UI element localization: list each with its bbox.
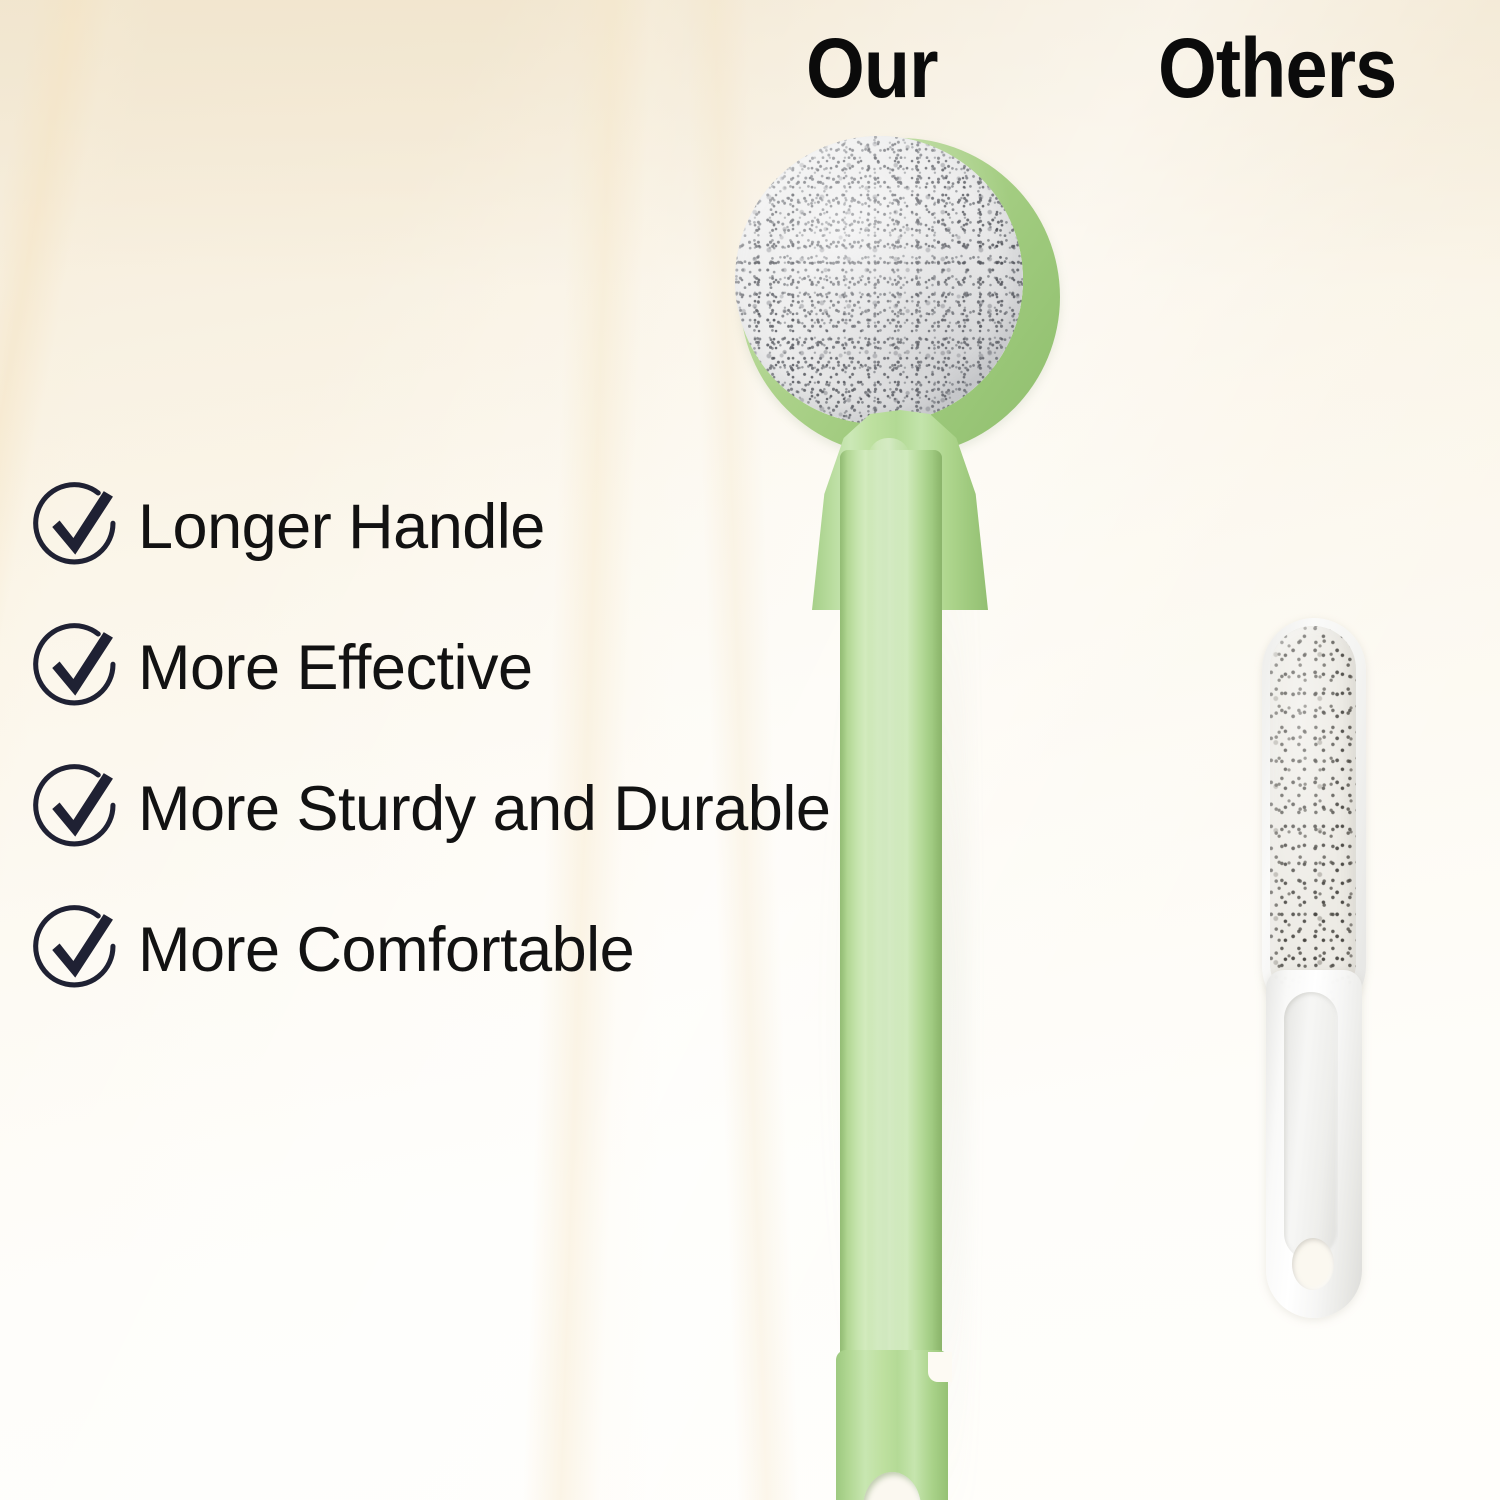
pumice-stone-disc [735, 136, 1023, 424]
pumice-shading [735, 136, 1023, 424]
benefit-item: More Sturdy and Durable [32, 768, 812, 850]
others-pumice-pad [1270, 626, 1356, 1006]
handle-bottom-notch [928, 1352, 952, 1382]
check-circle-icon [32, 763, 124, 855]
product-image-others [1240, 600, 1440, 1340]
benefits-list: Longer Handle More Effective More Sturdy… [32, 486, 812, 991]
others-handle-grip-groove [1284, 992, 1338, 1260]
benefit-item: More Effective [32, 627, 812, 709]
column-heading-others: Others [1158, 26, 1396, 110]
benefit-label: Longer Handle [138, 496, 545, 559]
hanging-hole-others [1292, 1238, 1334, 1290]
check-circle-icon [32, 481, 124, 573]
benefit-label: More Comfortable [138, 919, 634, 982]
benefit-item: More Comfortable [32, 909, 812, 991]
column-heading-ours: Our [806, 26, 938, 110]
check-circle-icon [32, 904, 124, 996]
product-comparison-image: Our Others Longer Handle More Effective … [0, 0, 1500, 1500]
product-image-ours [700, 120, 1100, 1500]
handle-shaft-highlight [868, 438, 910, 1438]
check-circle-icon [32, 622, 124, 714]
benefit-item: Longer Handle [32, 486, 812, 568]
benefit-label: More Effective [138, 637, 533, 700]
others-pumice-shading [1270, 626, 1356, 1006]
